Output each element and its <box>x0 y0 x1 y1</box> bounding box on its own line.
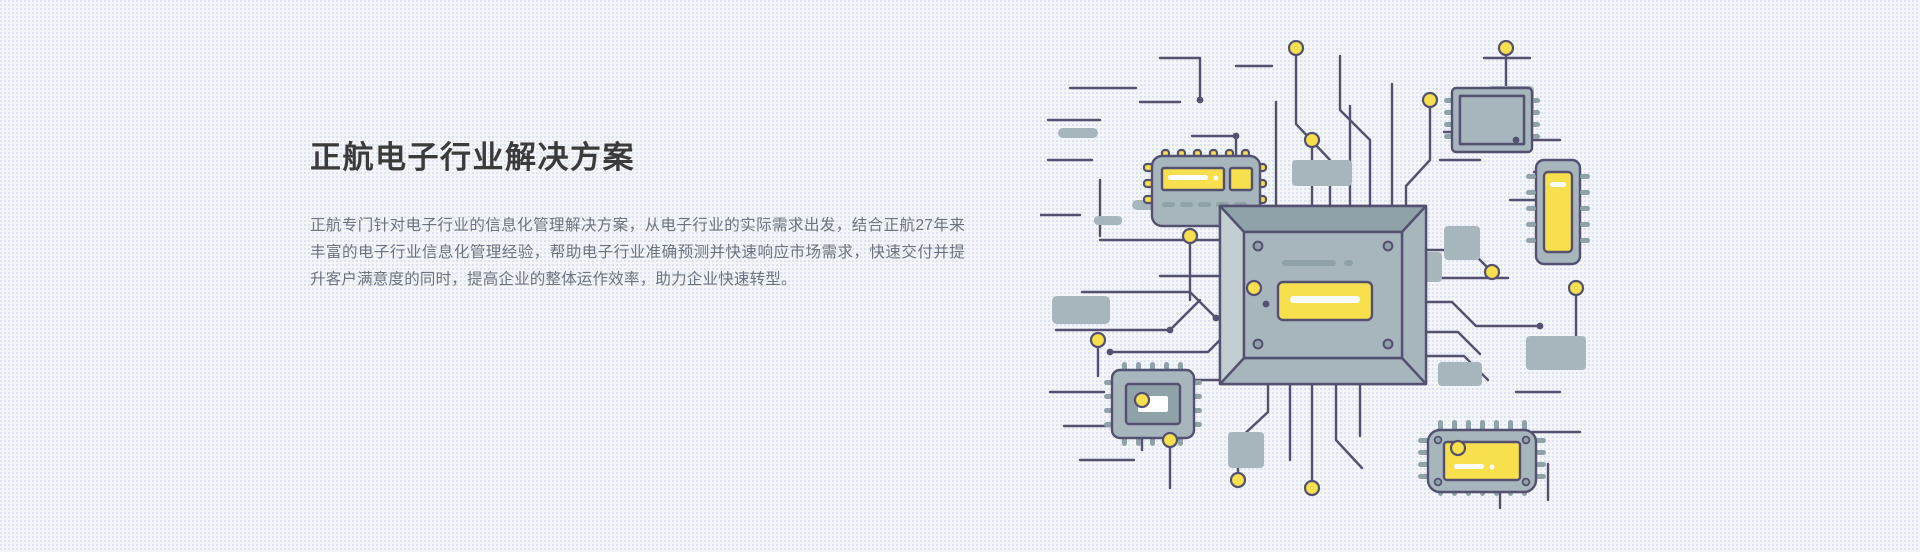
hero-section: 正航电子行业解决方案 正航专门针对电子行业的信息化管理解决方案，从电子行业的实际… <box>0 0 1920 552</box>
circuit-board-illustration: .tr { fill:none; stroke:#545170; stroke-… <box>1040 40 1600 510</box>
text-block: 正航电子行业解决方案 正航专门针对电子行业的信息化管理解决方案，从电子行业的实际… <box>310 138 970 293</box>
circuit-board-svg: .tr { fill:none; stroke:#545170; stroke-… <box>1040 40 1600 510</box>
page-description: 正航专门针对电子行业的信息化管理解决方案，从电子行业的实际需求出发，结合正航27… <box>310 212 965 293</box>
ic-chip-bottom-right <box>1418 420 1546 496</box>
memory-module-right <box>1526 160 1590 264</box>
ic-chip-bottom-left <box>1104 362 1202 446</box>
page-title: 正航电子行业解决方案 <box>310 138 970 178</box>
processor-top-right <box>1444 88 1540 152</box>
